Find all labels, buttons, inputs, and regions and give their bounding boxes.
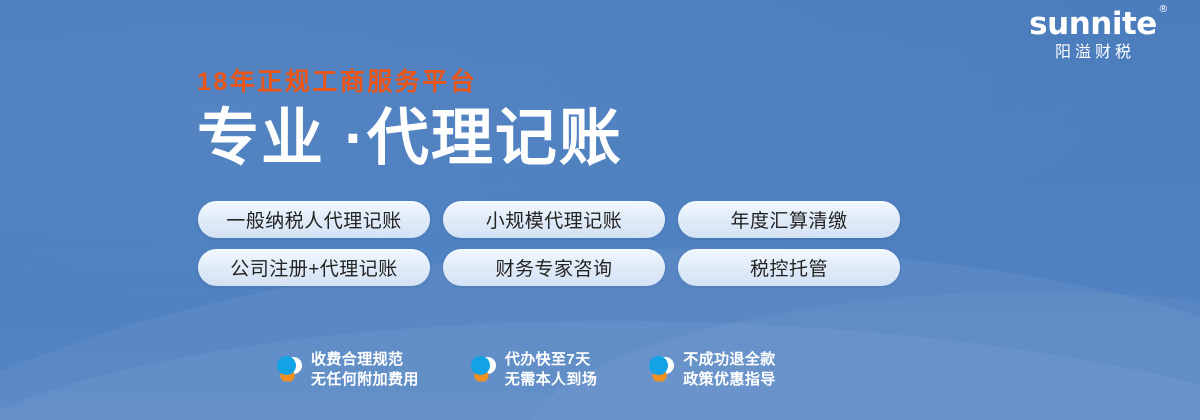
feature-line-primary: 收费合理规范: [311, 352, 419, 367]
feature-line-primary: 不成功退全款: [683, 352, 775, 367]
bubble-badge-icon: [470, 355, 496, 385]
headline-title: 专业 ·代理记账: [197, 106, 623, 171]
bubble-dot-icon: [649, 356, 668, 375]
registered-trademark-icon: ®: [1158, 5, 1168, 15]
brand-chinese-name: 阳溢财税: [1008, 45, 1178, 61]
service-pill[interactable]: 一般纳税人代理记账: [198, 201, 430, 238]
bubble-badge-icon: [276, 355, 302, 385]
service-pill[interactable]: 公司注册+代理记账: [198, 249, 430, 286]
feature-text: 不成功退全款 政策优惠指导: [683, 352, 775, 387]
service-pill[interactable]: 年度汇算清缴: [678, 201, 900, 238]
service-pill[interactable]: 小规模代理记账: [443, 201, 665, 238]
feature-item: 代办快至7天 无需本人到场: [470, 352, 597, 387]
service-pill[interactable]: 税控托管: [678, 249, 900, 286]
feature-text: 代办快至7天 无需本人到场: [505, 352, 597, 387]
feature-item: 不成功退全款 政策优惠指导: [648, 352, 775, 387]
headline-block: 18年正规工商服务平台 专业 ·代理记账: [197, 70, 623, 171]
bubble-dot-icon: [277, 356, 296, 375]
brand-logo[interactable]: sunnite® 阳溢财税: [1008, 8, 1178, 61]
service-pill-grid: 一般纳税人代理记账 小规模代理记账 年度汇算清缴 公司注册+代理记账 财务专家咨…: [198, 201, 900, 286]
feature-text: 收费合理规范 无任何附加费用: [311, 352, 419, 387]
bubble-dot-icon: [471, 356, 490, 375]
feature-list: 收费合理规范 无任何附加费用 代办快至7天 无需本人到场 不成功退全款: [276, 352, 776, 387]
brand-wordmark: sunnite®: [1029, 8, 1157, 40]
feature-item: 收费合理规范 无任何附加费用: [276, 352, 419, 387]
feature-line-primary: 代办快至7天: [505, 352, 597, 367]
feature-line-secondary: 无任何附加费用: [311, 372, 419, 387]
promo-banner: sunnite® 阳溢财税 18年正规工商服务平台 专业 ·代理记账 一般纳税人…: [0, 0, 1200, 420]
feature-line-secondary: 政策优惠指导: [683, 372, 775, 387]
headline-kicker: 18年正规工商服务平台: [197, 70, 623, 95]
bubble-badge-icon: [648, 355, 674, 385]
feature-line-secondary: 无需本人到场: [505, 372, 597, 387]
service-pill[interactable]: 财务专家咨询: [443, 249, 665, 286]
